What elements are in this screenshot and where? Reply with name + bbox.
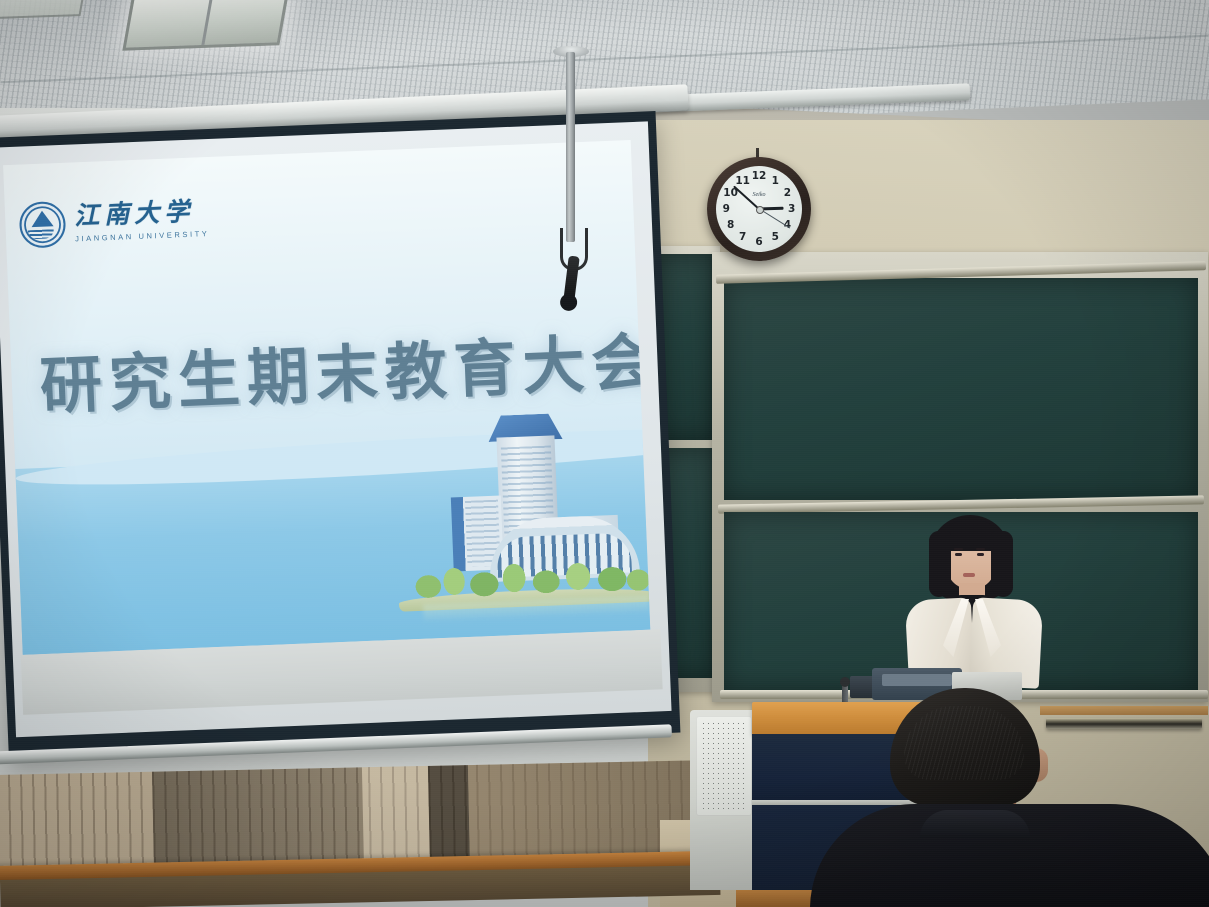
campus-illustration — [376, 412, 651, 623]
speaker-eye-left — [955, 553, 962, 556]
projection-screen: 江南大学 JIANGNAN UNIVERSITY 研究生期末教育大会 — [0, 111, 680, 759]
slide-university-logo: 江南大学 JIANGNAN UNIVERSITY — [19, 195, 210, 249]
clock-numeral-8: 8 — [727, 219, 734, 231]
clock-numeral-12: 12 — [752, 170, 767, 182]
audience-head — [890, 688, 1040, 806]
speaker-hair-right — [991, 531, 1013, 597]
university-name-cn: 江南大学 — [74, 199, 209, 229]
clock-center-pin — [756, 206, 764, 214]
ceiling-light-fixture — [122, 0, 289, 51]
audience-collar — [920, 810, 1030, 838]
lecture-hall-photo: Seiko 12 1 2 3 4 5 6 7 8 9 10 11 — [0, 0, 1209, 907]
projector-mount-pole — [566, 52, 575, 242]
speaker-eye-right — [977, 553, 984, 556]
speaker-person — [905, 515, 1045, 685]
clock-numeral-11: 11 — [735, 175, 750, 187]
clock-numeral-2: 2 — [784, 187, 791, 199]
clock-numeral-1: 1 — [772, 175, 779, 187]
speaker-mouth — [963, 573, 975, 577]
clock-face: Seiko 12 1 2 3 4 5 6 7 8 9 10 11 — [716, 166, 802, 252]
projected-slide: 江南大学 JIANGNAN UNIVERSITY 研究生期末教育大会 — [3, 140, 650, 655]
podium-speaker-grille — [696, 716, 752, 816]
speaker-eyebrow-left — [954, 548, 963, 550]
clock-numeral-7: 7 — [739, 231, 746, 243]
wall-clock: Seiko 12 1 2 3 4 5 6 7 8 9 10 11 — [707, 157, 811, 261]
blackboard-panel-upper — [724, 278, 1198, 500]
clock-numeral-9: 9 — [723, 203, 730, 215]
speaker-eyebrow-right — [976, 548, 985, 550]
speaker-hair-left — [929, 531, 951, 597]
clock-numeral-3: 3 — [788, 203, 795, 215]
clock-numeral-6: 6 — [755, 236, 762, 248]
university-name-en: JIANGNAN UNIVERSITY — [75, 229, 210, 243]
audience-person — [828, 688, 1209, 907]
clock-brand-label: Seiko — [753, 192, 766, 198]
clock-numeral-5: 5 — [772, 231, 779, 243]
jiangnan-university-emblem-icon — [19, 201, 67, 249]
